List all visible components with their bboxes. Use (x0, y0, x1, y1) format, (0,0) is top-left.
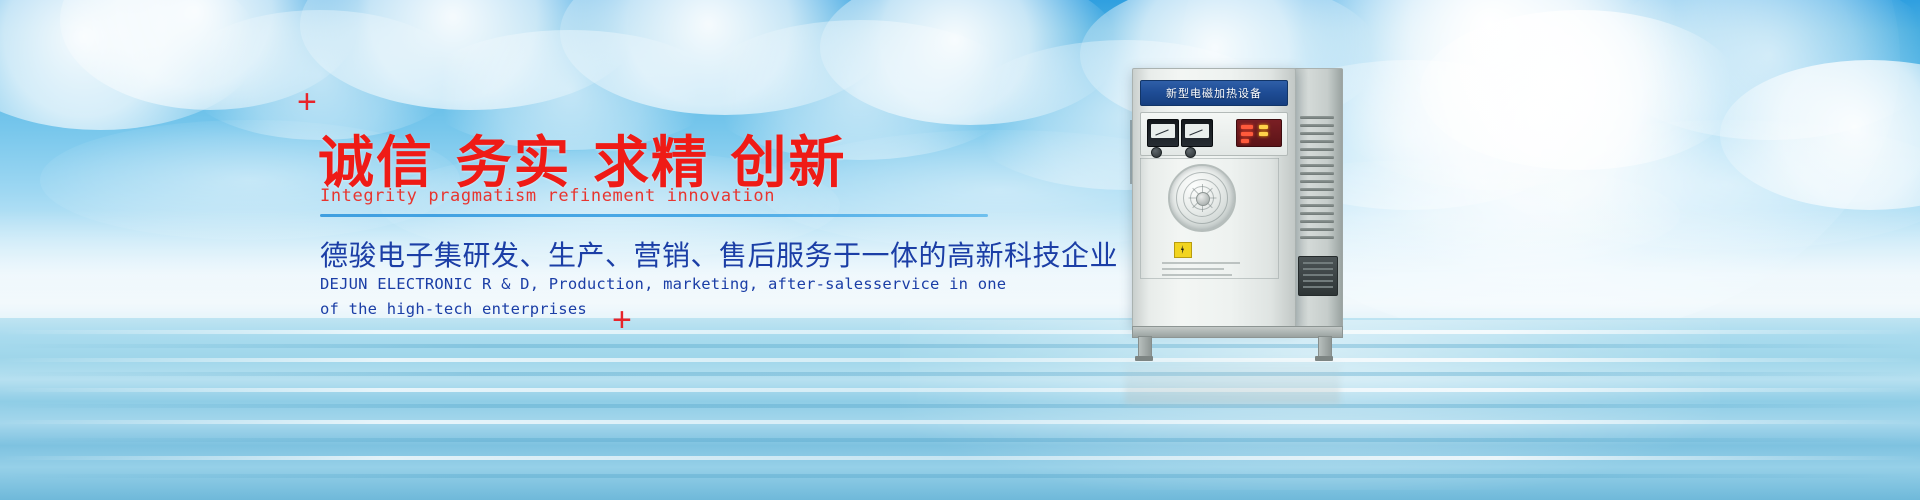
analog-meter-icon (1181, 119, 1213, 147)
ventilation-slot-icon (1300, 156, 1334, 159)
subtitle-chinese: 德骏电子集研发、生产、营销、售后服务于一体的高新科技企业 (320, 234, 1118, 274)
digital-display-icon (1236, 119, 1282, 147)
ventilation-slot-icon (1300, 132, 1334, 135)
ventilation-slot-icon (1300, 140, 1334, 143)
control-panel (1140, 112, 1288, 156)
control-knob-icon[interactable] (1185, 147, 1196, 158)
warning-sticker-icon (1174, 242, 1192, 258)
ventilation-slot-icon (1300, 116, 1334, 119)
ventilation-slot-icon (1300, 124, 1334, 127)
lower-vent-block (1298, 256, 1338, 296)
ventilation-slot-icon (1300, 228, 1334, 231)
handle-bar[interactable] (1130, 120, 1132, 184)
door-seam (1140, 158, 1141, 278)
machine-reflection (1125, 358, 1340, 404)
analog-meter-icon (1147, 119, 1179, 147)
ventilation-slot-icon (1300, 148, 1334, 151)
ventilation-slot-icon (1300, 188, 1334, 191)
ventilation-slot-icon (1300, 236, 1334, 239)
cabinet-base (1132, 326, 1343, 338)
ventilation-slot-icon (1300, 204, 1334, 207)
ventilation-slot-icon (1300, 220, 1334, 223)
fan-grille-icon (1168, 164, 1236, 232)
promotional-banner: + + 诚信 务实 求精 创新 Integrity pragmatism ref… (0, 0, 1920, 500)
headline-english: Integrity pragmatism refinement innovati… (320, 186, 775, 206)
banner-text-block: + + 诚信 务实 求精 创新 Integrity pragmatism ref… (0, 0, 1100, 500)
ventilation-slot-icon (1300, 172, 1334, 175)
ventilation-slot-icon (1300, 212, 1334, 215)
ventilation-slot-icon (1300, 180, 1334, 183)
subtitle-english-line1: DEJUN ELECTRONIC R & D, Production, mark… (320, 272, 1006, 297)
door-seam (1140, 158, 1279, 159)
cabinet-foot (1135, 356, 1153, 361)
subtitle-english: DEJUN ELECTRONIC R & D, Production, mark… (320, 272, 1006, 322)
plus-icon: + (297, 85, 317, 119)
divider-line (320, 214, 988, 217)
ventilation-slot-icon (1300, 196, 1334, 199)
door-text-line (1162, 268, 1224, 270)
door-text-line (1162, 262, 1240, 264)
ventilation-slot-icon (1300, 164, 1334, 167)
door-seam (1278, 158, 1279, 278)
machine-label-plate: 新型电磁加热设备 (1140, 80, 1288, 106)
door-text-line (1162, 274, 1232, 276)
control-knob-icon[interactable] (1151, 147, 1162, 158)
induction-heating-cabinet: 新型电磁加热设备 (1122, 60, 1422, 360)
subtitle-english-line2: of the high-tech enterprises (320, 297, 1006, 322)
door-seam (1140, 278, 1279, 279)
cabinet-foot (1315, 356, 1333, 361)
